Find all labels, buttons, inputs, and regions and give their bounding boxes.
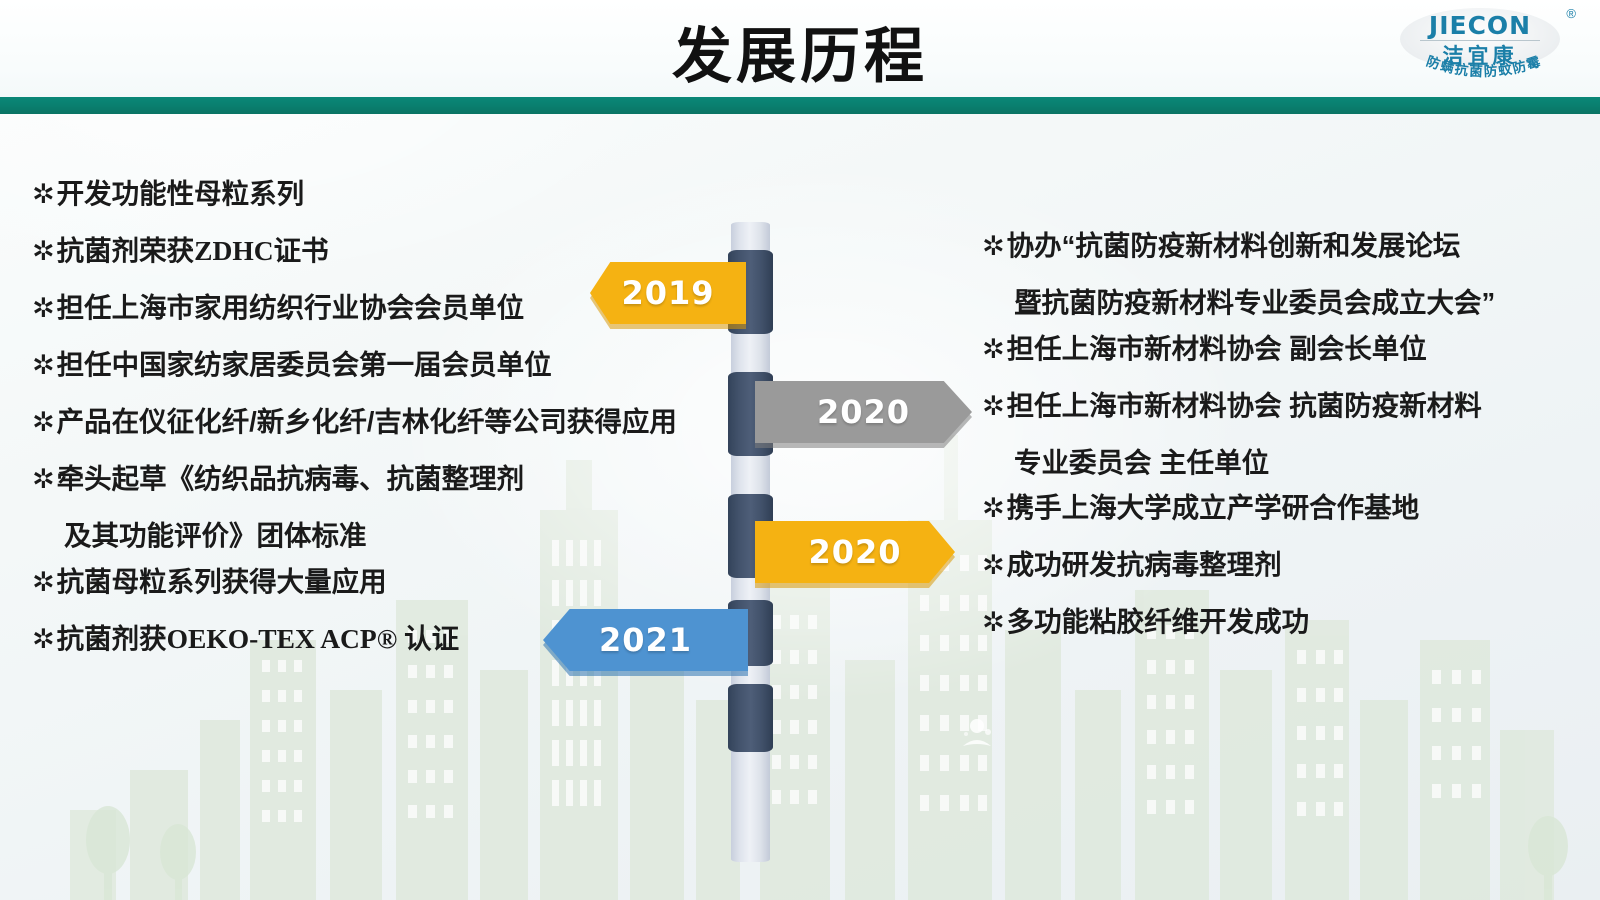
bullet-asterisk-icon: ✲: [982, 552, 1005, 579]
achievement-text: 暨抗菌防疫新材料专业委员会成立大会”: [1014, 287, 1495, 318]
bullet-asterisk-icon: ✲: [982, 336, 1005, 363]
achievement-text: 担任上海市新材料协会 副会长单位: [1007, 333, 1427, 364]
timeline-year-label: 2020: [808, 533, 901, 571]
left-achievements-column: ✲开发功能性母粒系列✲抗菌剂荣获ZDHC证书✲担任上海市家用纺织行业协会会员单位…: [32, 180, 692, 682]
achievement-text: 担任上海市家用纺织行业协会会员单位: [57, 292, 525, 323]
timeline-marker-2020-a[interactable]: 2020: [755, 381, 972, 443]
achievement-item: ✲开发功能性母粒系列: [32, 180, 692, 208]
achievement-item: ✲抗菌母粒系列获得大量应用: [32, 568, 692, 596]
bullet-asterisk-icon: ✲: [32, 466, 55, 493]
achievement-text: 协办“抗菌防疫新材料创新和发展论坛: [1007, 230, 1461, 261]
logo-latin-wordmark: JIECON: [1400, 11, 1560, 40]
slide-root: 发展历程 JIECON 洁宜康 ® 防螨抗菌防蚊防霉 2019: [0, 0, 1600, 900]
timeline-year-label: 2020: [817, 393, 910, 431]
bullet-asterisk-icon: ✲: [982, 393, 1005, 420]
logo-tagline-arc: 防螨抗菌防蚊防霉: [1386, 50, 1582, 90]
achievement-item: ✲成功研发抗病毒整理剂: [982, 551, 1582, 579]
header-accent-bar: [0, 97, 1600, 114]
bullet-asterisk-icon: ✲: [32, 238, 55, 265]
achievement-item: ✲担任上海市新材料协会 副会长单位: [982, 335, 1582, 363]
achievement-item: ✲担任中国家纺家居委员会第一届会员单位: [32, 351, 692, 379]
achievement-item: 专业委员会 主任单位: [982, 449, 1582, 477]
achievement-text: 担任上海市新材料协会 抗菌防疫新材料: [1007, 390, 1482, 421]
registered-trademark-icon: ®: [1566, 6, 1576, 21]
achievement-text: 牵头起草《纺织品抗病毒、抗菌整理剂: [57, 463, 525, 494]
bullet-asterisk-icon: ✲: [982, 609, 1005, 636]
bullet-asterisk-icon: ✲: [32, 295, 55, 322]
logo-tagline-text: 防螨抗菌防蚊防霉: [1424, 53, 1543, 80]
achievement-item: 及其功能评价》团体标准: [32, 522, 692, 550]
bullet-asterisk-icon: ✲: [982, 495, 1005, 522]
achievement-item: ✲协办“抗菌防疫新材料创新和发展论坛: [982, 232, 1582, 260]
achievement-text: 成功研发抗病毒整理剂: [1007, 549, 1282, 580]
bullet-asterisk-icon: ✲: [32, 352, 55, 379]
bullet-asterisk-icon: ✲: [982, 233, 1005, 260]
achievement-item: ✲担任上海市家用纺织行业协会会员单位: [32, 294, 692, 322]
achievement-text: 携手上海大学成立产学研合作基地: [1007, 492, 1420, 523]
achievement-text: 抗菌剂获OEKO-TEX ACP® 认证: [57, 623, 460, 654]
bullet-asterisk-icon: ✲: [32, 626, 55, 653]
achievement-text: 专业委员会 主任单位: [1014, 447, 1269, 478]
achievement-item: ✲担任上海市新材料协会 抗菌防疫新材料: [982, 392, 1582, 420]
achievement-text: 及其功能评价》团体标准: [64, 520, 367, 551]
achievement-item: 暨抗菌防疫新材料专业委员会成立大会”: [982, 289, 1582, 317]
achievement-text: 产品在仪征化纤/新乡化纤/吉林化纤等公司获得应用: [57, 406, 677, 437]
achievement-text: 担任中国家纺家居委员会第一届会员单位: [57, 349, 552, 380]
achievement-item: ✲多功能粘胶纤维开发成功: [982, 608, 1582, 636]
timeline-marker-2020-b[interactable]: 2020: [755, 521, 955, 583]
achievement-text: 开发功能性母粒系列: [57, 178, 305, 209]
achievement-text: 抗菌剂荣获ZDHC证书: [57, 235, 329, 266]
achievement-item: ✲携手上海大学成立产学研合作基地: [982, 494, 1582, 522]
decorative-flourish-icon: [955, 712, 999, 756]
achievement-item: ✲抗菌剂荣获ZDHC证书: [32, 237, 692, 265]
achievement-text: 多功能粘胶纤维开发成功: [1007, 606, 1310, 637]
achievement-text: 抗菌母粒系列获得大量应用: [57, 566, 387, 597]
bullet-asterisk-icon: ✲: [32, 181, 55, 208]
bullet-asterisk-icon: ✲: [32, 569, 55, 596]
achievement-item: ✲牵头起草《纺织品抗病毒、抗菌整理剂: [32, 465, 692, 493]
timeline-segment-5: [728, 684, 773, 752]
timeline-year-label: 2021: [599, 621, 692, 659]
achievement-item: ✲抗菌剂获OEKO-TEX ACP® 认证: [32, 625, 692, 653]
slide-header: 发展历程: [0, 0, 1600, 97]
bullet-asterisk-icon: ✲: [32, 409, 55, 436]
achievement-item: ✲产品在仪征化纤/新乡化纤/吉林化纤等公司获得应用: [32, 408, 692, 436]
right-achievements-column: ✲协办“抗菌防疫新材料创新和发展论坛暨抗菌防疫新材料专业委员会成立大会”✲担任上…: [982, 232, 1582, 665]
page-title: 发展历程: [0, 8, 1600, 95]
timeline-year-label: 2019: [621, 274, 714, 312]
company-logo: JIECON 洁宜康 ® 防螨抗菌防蚊防霉: [1386, 2, 1582, 90]
